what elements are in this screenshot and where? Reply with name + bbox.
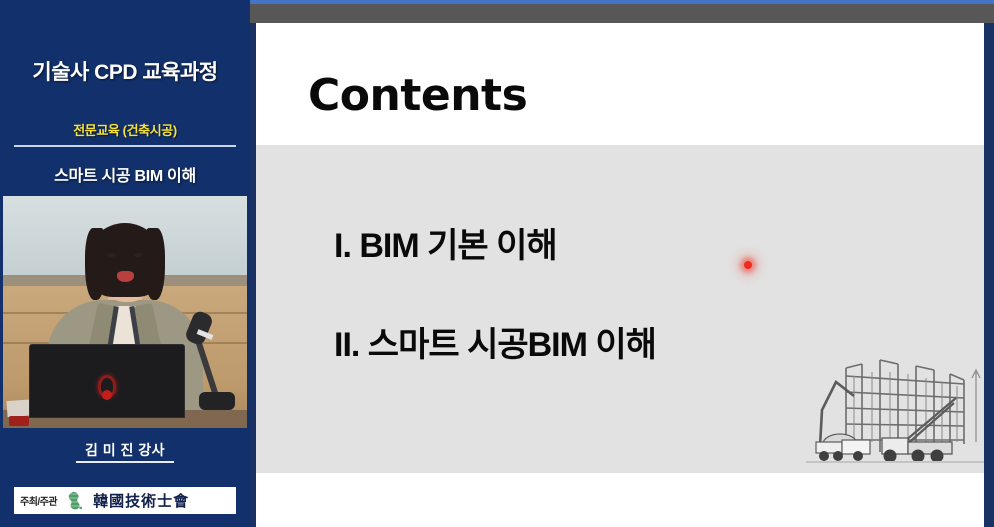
course-title: 기술사 CPD 교육과정 (0, 56, 250, 86)
slide-header: Contents (256, 23, 984, 145)
korea-map-icon (62, 491, 88, 511)
desk-object (9, 416, 29, 426)
organizer-logo-bar: 주최/주관 韓國技術士會 (14, 487, 236, 514)
course-sidebar: 기술사 CPD 교육과정 전문교육 (건축시공) 스마트 시공 BIM 이해 (0, 0, 250, 527)
organizer-label: 주최/주관 (20, 493, 57, 508)
instructor-name: 김 미 진 강사 (0, 440, 250, 460)
slide-area[interactable]: Contents I. BIM 기본 이해 II. 스마트 시공BIM 이해 (250, 0, 994, 527)
toc-item-1[interactable]: I. BIM 기본 이해 (334, 218, 557, 267)
slide-content-panel: I. BIM 기본 이해 II. 스마트 시공BIM 이해 (256, 145, 984, 473)
instructor-hair (87, 223, 163, 297)
page-title: Contents (308, 70, 527, 121)
laptop-logo-icon (98, 375, 116, 397)
organizer-name: 韓國技術士會 (93, 490, 189, 511)
lecture-title: 스마트 시공 BIM 이해 (0, 162, 250, 186)
course-subtitle: 전문교육 (건축시공) (0, 120, 250, 139)
laser-pointer-dot (744, 261, 752, 269)
presentation-viewer: 기술사 CPD 교육과정 전문교육 (건축시공) 스마트 시공 BIM 이해 (0, 0, 994, 527)
sidebar-divider (14, 145, 236, 147)
slide-top-toolbar-bar (250, 4, 994, 23)
toc-item-2[interactable]: II. 스마트 시공BIM 이해 (334, 317, 656, 366)
instructor-video-feed[interactable] (3, 196, 247, 428)
slide-right-edge-bar (984, 23, 994, 527)
instructor-eye-left (107, 253, 116, 257)
construction-site-illustration (806, 350, 984, 470)
instructor-name-underline (76, 461, 174, 463)
instructor-eye-right (134, 253, 143, 257)
microphone-base (199, 392, 235, 410)
laptop-icon (29, 344, 185, 418)
